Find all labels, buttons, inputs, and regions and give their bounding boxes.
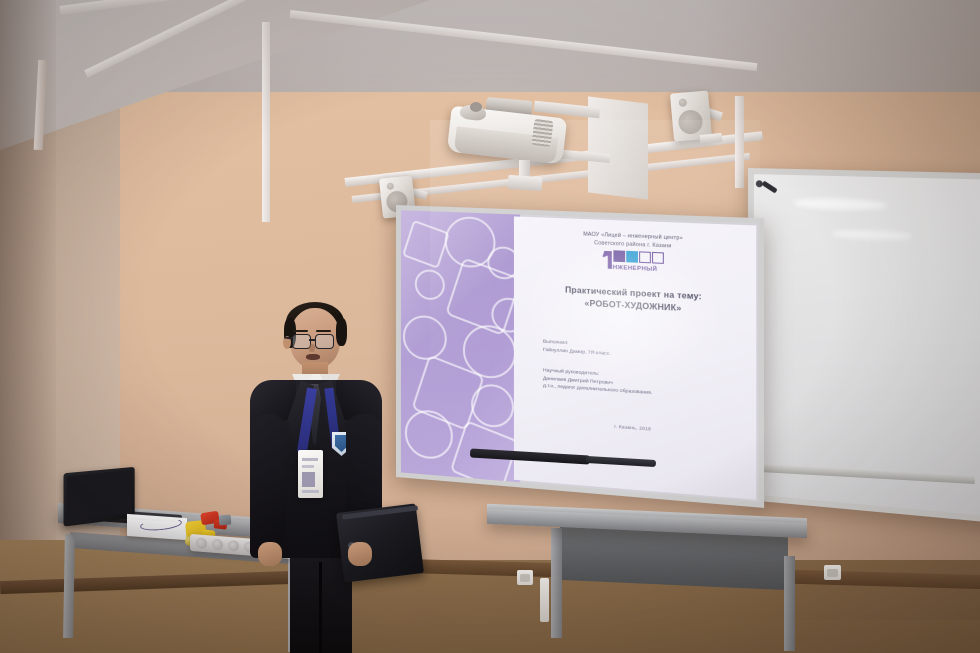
gear-outline-icon <box>403 314 447 361</box>
gear-outline-icon <box>415 269 445 301</box>
desk-left-leg <box>63 534 75 638</box>
laptop[interactable] <box>64 467 135 527</box>
presenter-hand <box>258 542 282 566</box>
eyeglasses-lens <box>315 334 334 349</box>
junction-box <box>508 175 543 191</box>
presenter-mouth <box>306 354 320 360</box>
projector-vent <box>531 119 553 147</box>
logo-square <box>626 251 638 263</box>
robot-motor <box>219 515 232 526</box>
gear-outline-icon <box>402 220 450 269</box>
id-badge-photo <box>302 472 315 487</box>
slide-footer: г. Казань, 2018 <box>514 416 756 440</box>
presenter <box>236 304 396 653</box>
presenter-leg-seam <box>319 562 322 653</box>
whiteboard-glare <box>832 229 912 241</box>
slide-supervisor-block: Научный руководитель: Данилаев Дмитрий П… <box>543 367 736 403</box>
marker-icon[interactable] <box>762 181 778 194</box>
projector-adjust-knob[interactable] <box>470 102 482 112</box>
gear-outline-icon <box>471 383 514 429</box>
classroom-scene: МАОУ «Лицей – инженерный центр» Советско… <box>0 0 980 653</box>
speaker-cone <box>678 109 704 135</box>
power-socket[interactable] <box>212 539 223 551</box>
id-badge-line <box>302 458 318 461</box>
presenter-hair-side <box>336 318 347 346</box>
slide-author-block: Выполнил: Гайнуллин Дамир, 7Я класс. <box>543 339 736 366</box>
power-socket[interactable] <box>196 537 207 549</box>
id-badge-line <box>302 465 314 468</box>
wall-outlet-socket <box>827 569 838 577</box>
cable <box>477 586 569 635</box>
desk-right-leg <box>784 556 795 651</box>
speaker-tweeter <box>386 182 394 190</box>
slide-gear-graphic <box>401 210 520 482</box>
speaker-tweeter <box>678 98 687 107</box>
eyeglasses-bridge <box>309 339 316 341</box>
laptop-screen <box>67 470 132 521</box>
id-badge-line <box>302 490 319 493</box>
logo-square <box>613 250 625 262</box>
logo-square <box>639 251 651 263</box>
whiteboard-glare <box>793 197 887 211</box>
logo-square <box>651 252 663 264</box>
presenter-arm <box>250 414 286 550</box>
cable-conduit-vertical <box>262 22 270 222</box>
presenter-hand <box>348 542 372 566</box>
presenter-nose <box>309 344 315 352</box>
